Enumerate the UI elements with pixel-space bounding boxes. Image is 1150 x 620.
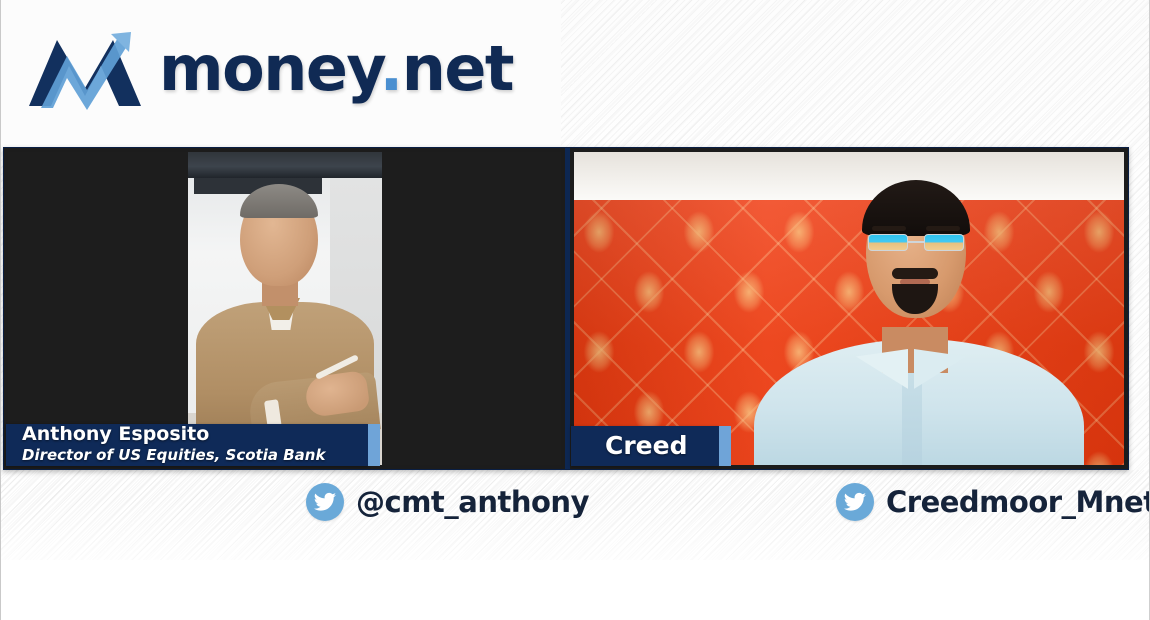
speaker-name-right: Creed [605,433,719,459]
brand-word-dot: . [380,32,402,105]
brand-word-main: money [159,32,380,105]
twitter-handle-right-text: Creedmoor_Mnet [886,485,1150,519]
webcam-feed-left [188,152,382,465]
twitter-handle-left-text: @cmt_anthony [356,485,589,519]
money-net-chart-m-logo-icon [27,26,145,112]
brand-logo: money.net [27,24,513,114]
lower-third-right-accent [719,426,731,466]
video-panel [3,147,1129,470]
twitter-bird-icon [306,483,344,521]
lower-third-left-accent [368,424,380,466]
broadcast-stage: money.net [0,0,1150,620]
twitter-bird-icon [836,483,874,521]
video-surface-right [574,152,1124,465]
twitter-handle-right[interactable]: Creedmoor_Mnet [836,483,1150,521]
video-tile-left[interactable] [4,148,570,469]
speaker-title-left: Director of US Equities, Scotia Bank [22,447,368,464]
lower-third-left: Anthony Esposito Director of US Equities… [6,424,380,466]
twitter-handle-left[interactable]: @cmt_anthony [306,483,589,521]
lower-third-right-box: Creed [571,426,719,466]
eyeglasses [868,234,964,251]
lower-third-right: Creed [571,426,731,466]
video-surface-left [8,152,561,465]
video-tile-right[interactable] [570,148,1128,469]
speaker-name-left: Anthony Esposito [22,425,368,445]
brand-word-suffix: net [402,32,513,105]
brand-wordmark: money.net [159,38,513,100]
webcam-feed-right [574,152,1124,465]
lower-third-left-box: Anthony Esposito Director of US Equities… [6,424,368,466]
